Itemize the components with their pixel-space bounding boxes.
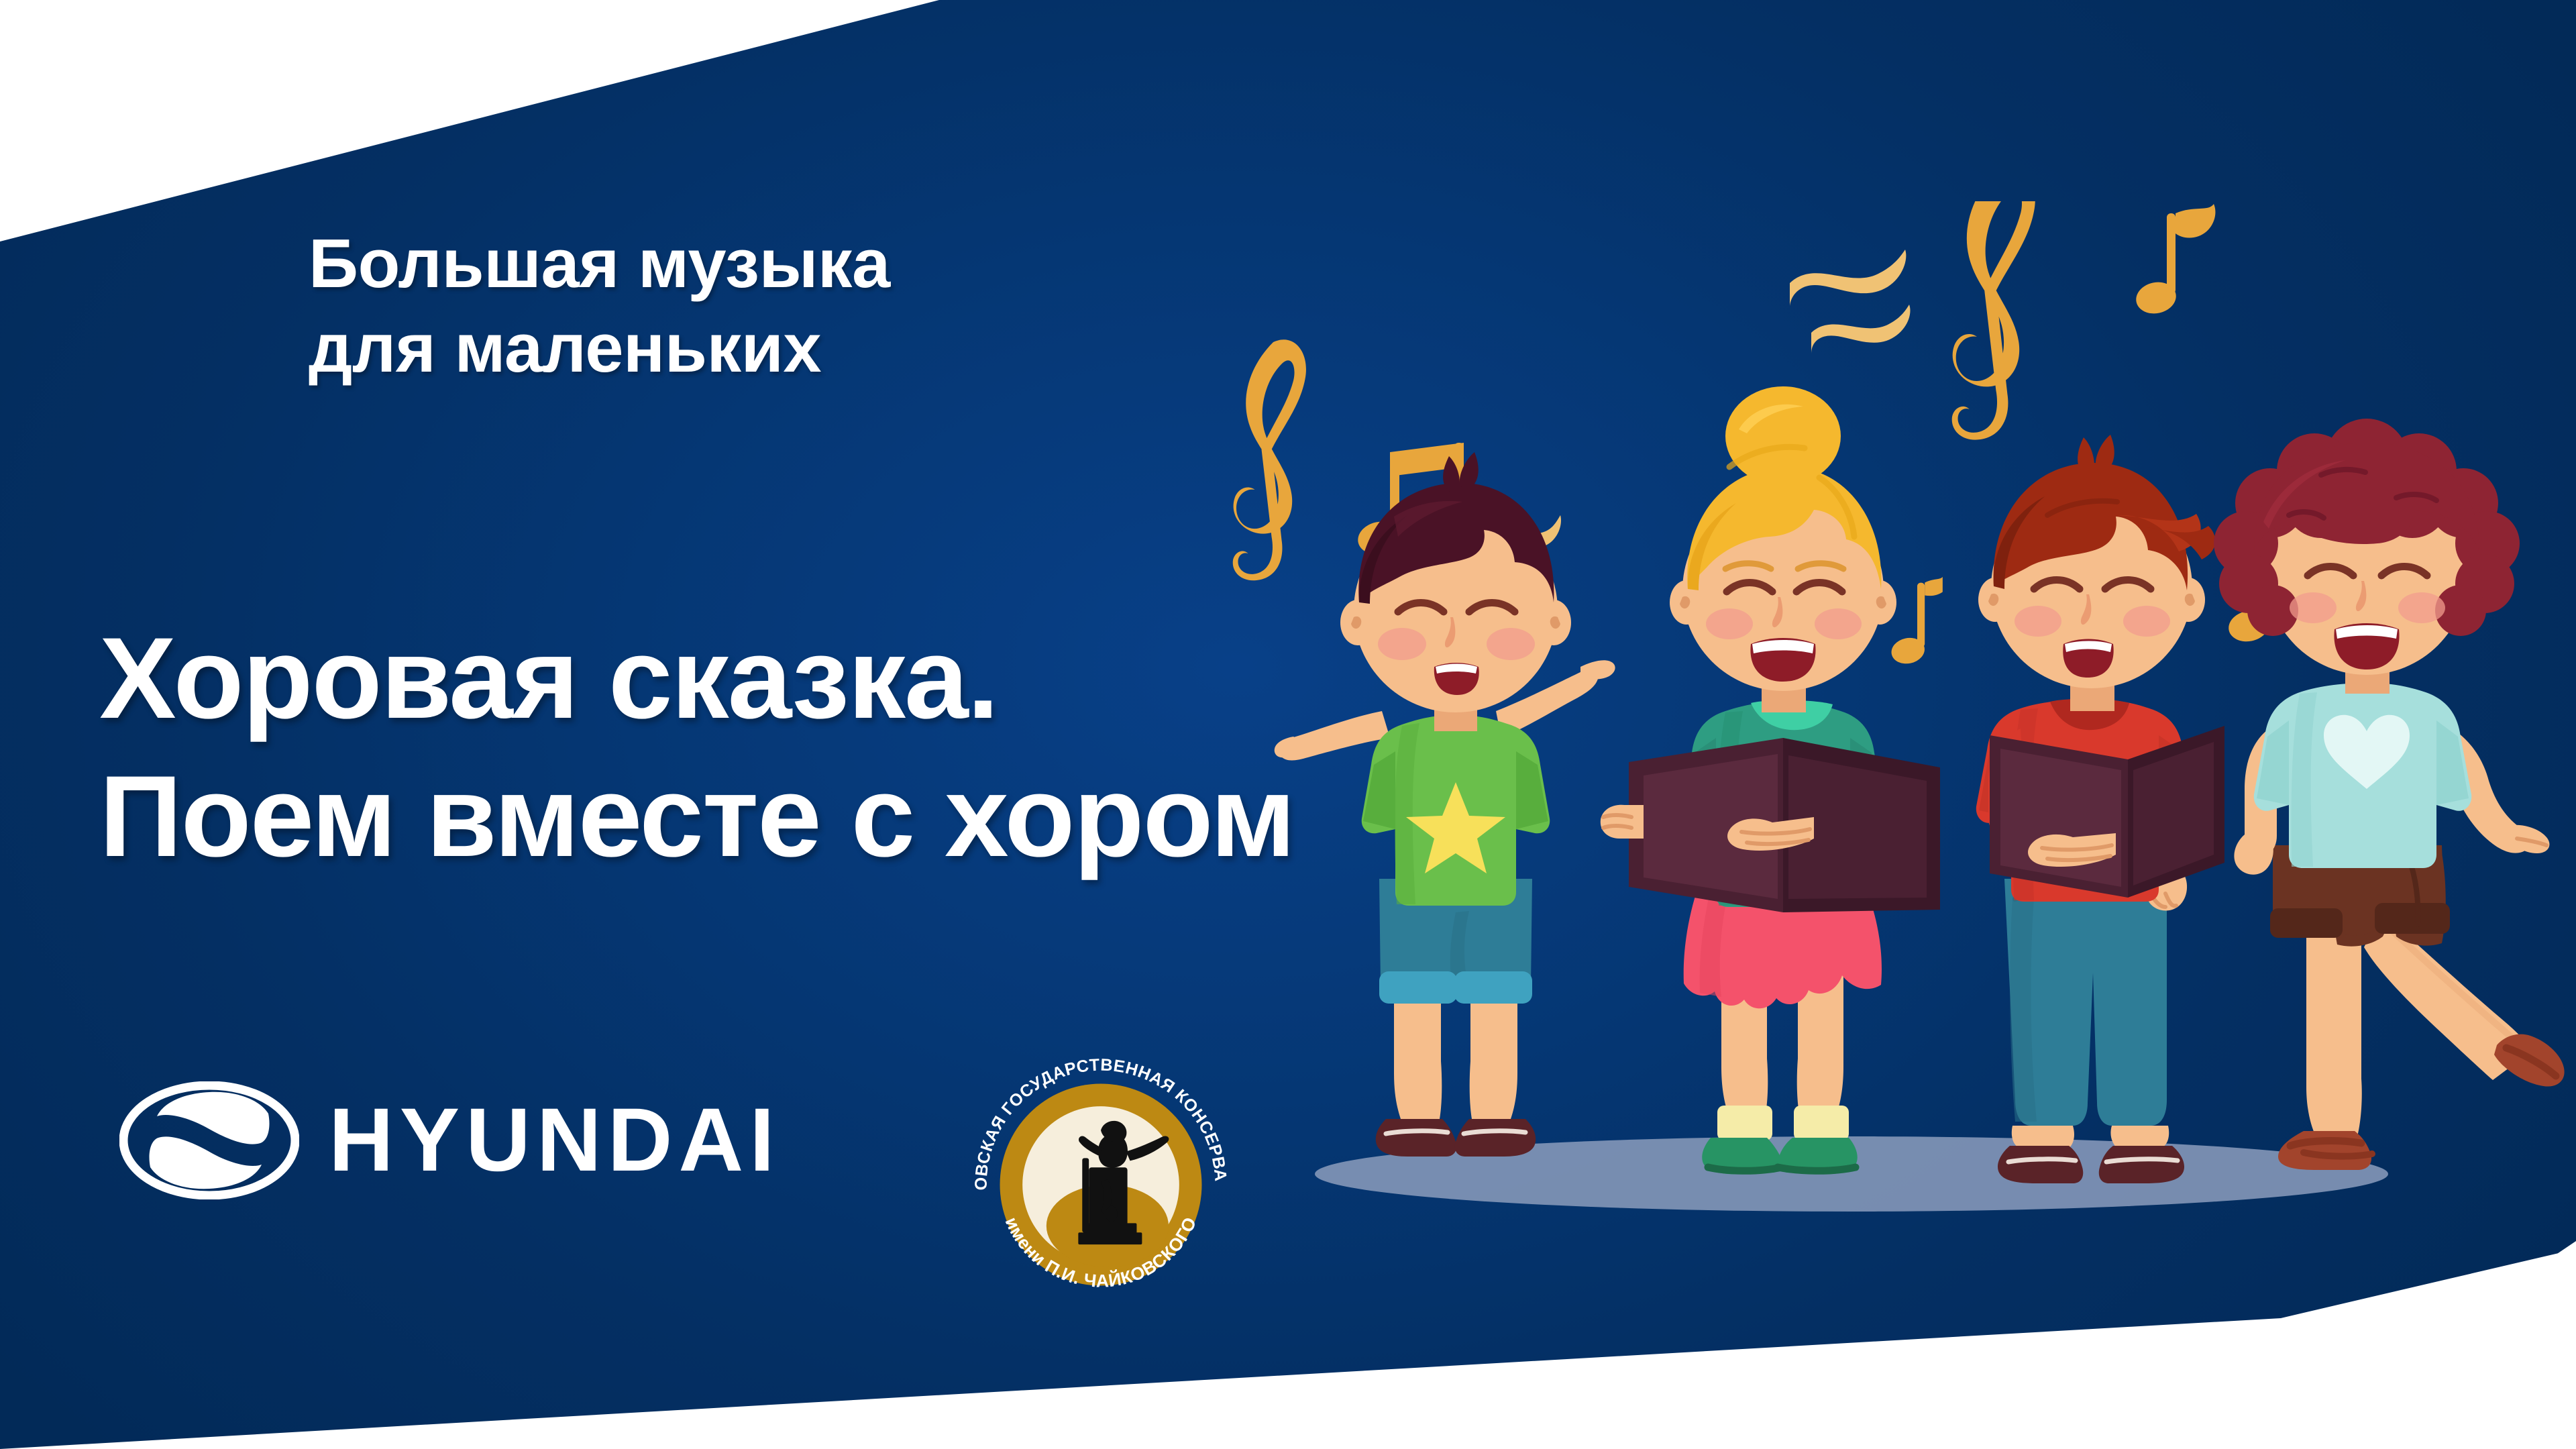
treble-clef-icon [1233,339,1306,580]
child-girl-blonde-bun [1601,386,1940,1174]
double-wave-squiggle-icon [1790,250,1911,354]
child-curly-hair [2214,419,2565,1170]
child-boy-red-shirt [1976,435,2224,1183]
hyundai-wordmark: HYUNDAI [329,1095,780,1185]
eighth-note-icon [2133,204,2216,317]
children-choir-illustration [1181,201,2576,1248]
eighth-note-icon [1889,577,1943,667]
page-title: Хоровая сказка. Поем вместе с хором [99,609,1295,886]
child-boy-green-shirt [1275,452,1615,1157]
treble-clef-icon [1952,201,2035,440]
program-subtitle: Большая музыка для маленьких [309,221,890,390]
poster-canvas: Большая музыка для маленьких Хоровая ска… [0,0,2576,1449]
hyundai-logo: HYUNDAI [119,1081,780,1199]
hyundai-h-oval-icon [119,1081,299,1199]
